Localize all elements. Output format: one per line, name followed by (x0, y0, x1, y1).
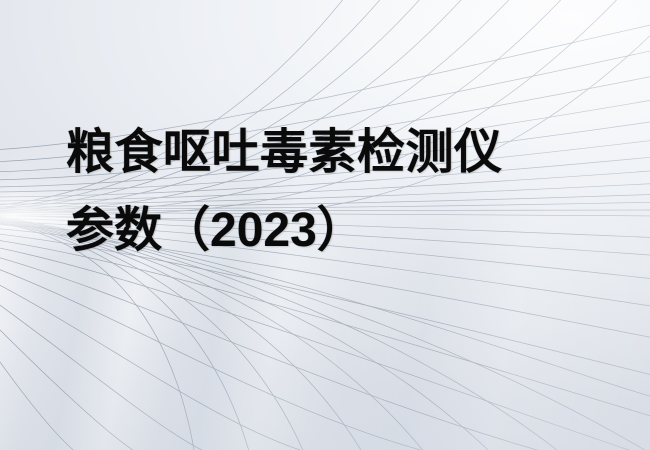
page-title: 粮食呕吐毒素检测仪 参数（2023） (66, 114, 626, 270)
title-banner: 粮食呕吐毒素检测仪 参数（2023） (0, 0, 650, 450)
title-line-secondary: 参数（2023） (66, 192, 626, 270)
title-line-primary: 粮食呕吐毒素检测仪 (66, 114, 626, 192)
